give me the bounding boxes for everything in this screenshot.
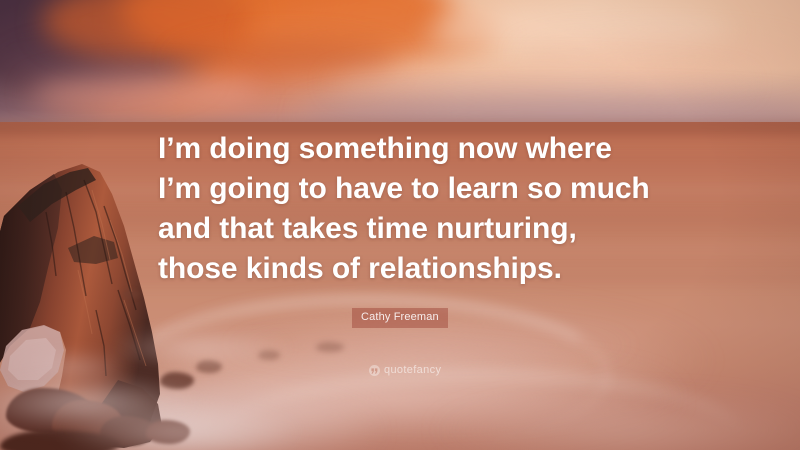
watermark: quotefancy (369, 365, 441, 376)
dark-cloud (6, 44, 206, 98)
dark-cloud (0, 0, 240, 74)
pink-cloud (30, 72, 260, 114)
pale-cloud (430, 4, 730, 54)
quote-line-3: and that takes time nurturing, (158, 209, 678, 249)
pale-cloud (330, 66, 750, 100)
quote-line-4: those kinds of relationships. (158, 249, 678, 289)
quote-text: I’m doing something now where I’m going … (158, 129, 678, 289)
sky-background (0, 0, 800, 124)
quote-line-2: I’m going to have to learn so much (158, 169, 678, 209)
quote-wallpaper-image: I’m doing something now where I’m going … (0, 0, 800, 450)
watermark-brand: quotefancy (384, 365, 441, 376)
orange-cloud (250, 6, 500, 64)
orange-cloud (42, 0, 252, 60)
pale-cloud (520, 36, 800, 76)
author-name: Cathy Freeman (352, 308, 448, 328)
quote-mark-circle-icon (369, 365, 380, 376)
orange-cloud (120, 0, 450, 64)
quote-line-1: I’m doing something now where (158, 129, 678, 169)
dark-cloud (0, 10, 190, 84)
orange-cloud (176, 40, 396, 84)
